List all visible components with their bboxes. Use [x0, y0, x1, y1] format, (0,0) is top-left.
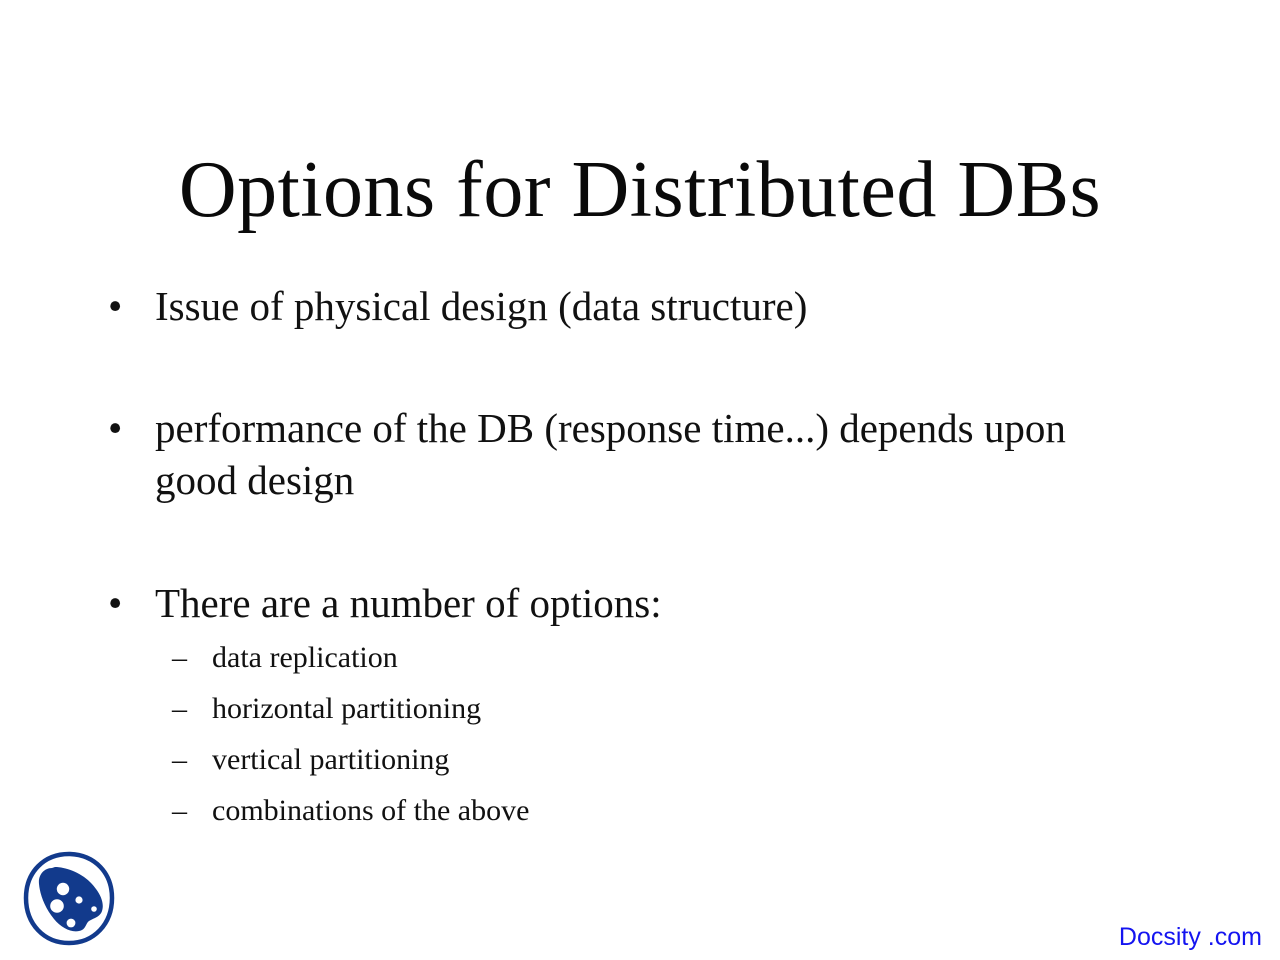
dash-marker-icon: –	[172, 683, 202, 734]
spacer	[0, 506, 1280, 577]
sub-list-item-label: data replication	[212, 641, 398, 674]
list-item-label: There are a number of options:	[155, 577, 1108, 629]
list-item-label: Issue of physical design (data structure…	[155, 280, 1108, 332]
sub-list-item: – data replication	[0, 632, 1280, 683]
bullet-marker-icon: •	[108, 577, 136, 629]
bullet-list: • Issue of physical design (data structu…	[0, 280, 1280, 836]
spacer	[0, 332, 1280, 402]
presentation-slide: Options for Distributed DBs • Issue of p…	[0, 0, 1280, 960]
dash-marker-icon: –	[172, 632, 202, 683]
page-title: Options for Distributed DBs	[0, 150, 1280, 230]
list-item: • performance of the DB (response time..…	[0, 402, 1280, 506]
dash-marker-icon: –	[172, 734, 202, 785]
bullet-marker-icon: •	[108, 280, 136, 332]
docsity-wordmark: Docsity .com	[1119, 923, 1262, 952]
list-item-label: performance of the DB (response time...)…	[155, 402, 1108, 506]
dash-marker-icon: –	[172, 785, 202, 836]
bullet-marker-icon: •	[108, 402, 136, 454]
list-item: • Issue of physical design (data structu…	[0, 280, 1280, 332]
sub-list-item-label: combinations of the above	[212, 794, 529, 827]
sub-list-item: – horizontal partitioning	[0, 683, 1280, 734]
docsity-cookie-logo-icon	[22, 851, 116, 947]
sub-list-item-label: horizontal partitioning	[212, 692, 481, 725]
sub-bullet-list: – data replication – horizontal partitio…	[0, 632, 1280, 836]
sub-list-item-label: vertical partitioning	[212, 743, 449, 776]
sub-list-item: – vertical partitioning	[0, 734, 1280, 785]
sub-list-item: – combinations of the above	[0, 785, 1280, 836]
list-item: • There are a number of options:	[0, 577, 1280, 629]
